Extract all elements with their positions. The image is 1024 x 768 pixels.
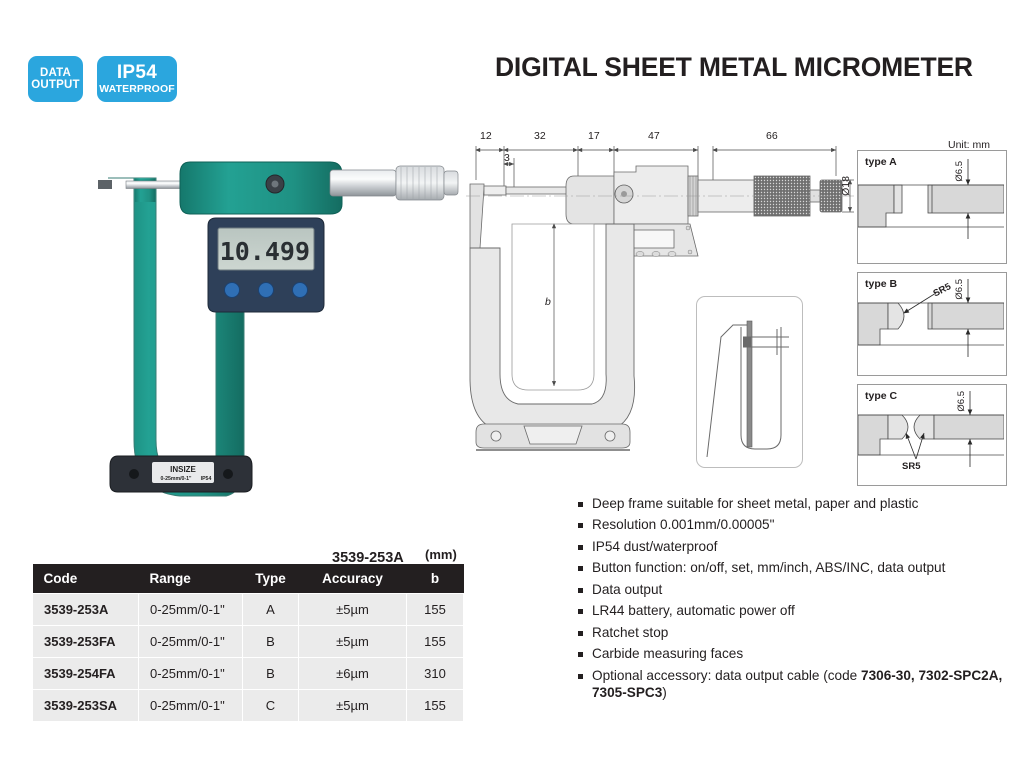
table-row: 3539-253A0-25mm/0-1"A±5µm155 xyxy=(33,594,464,626)
cell-b: 155 xyxy=(407,626,464,658)
cell-accuracy: ±5µm xyxy=(299,626,407,658)
base-plate-screw-right xyxy=(223,469,233,479)
inset-contact-point xyxy=(743,337,751,347)
optional-accessory-prefix: Optional accessory: data output cable (c… xyxy=(592,668,861,683)
cell-range: 0-25mm/0-1" xyxy=(139,626,243,658)
drawing-measuring-face xyxy=(484,186,506,195)
feature-item: Data output xyxy=(578,582,1018,599)
type-c-anvil xyxy=(858,415,888,455)
badge-data-output: DATA OUTPUT xyxy=(28,56,83,102)
feature-item: Deep frame suitable for sheet metal, pap… xyxy=(578,496,1018,513)
column-header-b: b xyxy=(407,564,464,594)
dim-throat-b: b xyxy=(545,296,551,308)
dim-diameter-18: Ø18 xyxy=(840,176,852,196)
type-c-spherical-spindle xyxy=(914,415,934,439)
type-b-spherical-face xyxy=(888,303,904,329)
lcd-reading: 10.499 xyxy=(220,237,310,266)
cell-range: 0-25mm/0-1" xyxy=(139,658,243,690)
dim-12: 12 xyxy=(480,130,492,142)
cell-code: 3539-253SA xyxy=(33,690,139,722)
cell-code: 3539-253FA xyxy=(33,626,139,658)
badge-data-output-line1: DATA xyxy=(40,67,71,79)
type-c-diameter: Ø6.5 xyxy=(956,391,967,412)
type-c-radius: SR5 xyxy=(902,461,920,472)
drawing-base-tag xyxy=(524,426,582,444)
column-header-code: Code xyxy=(33,564,139,594)
type-a-anvil xyxy=(858,185,894,227)
feature-item: Resolution 0.001mm/0.00005" xyxy=(578,517,1018,534)
cell-accuracy: ±5µm xyxy=(299,594,407,626)
type-b-label: type B xyxy=(865,278,897,290)
table-unit-label: (mm) xyxy=(425,547,457,562)
features-list: Deep frame suitable for sheet metal, pap… xyxy=(578,496,1018,706)
table-header-row: Code Range Type Accuracy b xyxy=(33,564,464,594)
drawing-base-screw-right xyxy=(605,431,615,441)
base-plate-screw-left xyxy=(129,469,139,479)
type-c-panel: type C Ø6.5 SR5 xyxy=(857,384,1007,486)
drawing-head-block xyxy=(566,176,614,224)
column-header-type: Type xyxy=(243,564,299,594)
type-b-anvil xyxy=(858,303,888,345)
cell-type: B xyxy=(243,658,299,690)
column-header-range: Range xyxy=(139,564,243,594)
cell-code: 3539-253A xyxy=(33,594,139,626)
type-c-spherical-anvil xyxy=(888,415,908,439)
frame-head-block xyxy=(180,162,342,214)
cell-b: 310 xyxy=(407,658,464,690)
type-a-panel: type A Ø6.5 xyxy=(857,150,1007,264)
type-a-anvil-face xyxy=(894,185,902,213)
button-zero-set[interactable] xyxy=(259,283,274,298)
type-b-spindle xyxy=(928,303,1004,329)
cell-range: 0-25mm/0-1" xyxy=(139,690,243,722)
cell-b: 155 xyxy=(407,594,464,626)
feature-item-optional-accessory: Optional accessory: data output cable (c… xyxy=(578,668,1018,702)
cell-type: C xyxy=(243,690,299,722)
table-row: 3539-254FA0-25mm/0-1"B±6µm310 xyxy=(33,658,464,690)
anvil xyxy=(98,180,112,189)
column-header-accuracy: Accuracy xyxy=(299,564,407,594)
clamp-screw-center xyxy=(272,181,279,188)
cell-accuracy: ±6µm xyxy=(299,658,407,690)
dim-47: 47 xyxy=(648,130,660,142)
feature-item: Ratchet stop xyxy=(578,625,1018,642)
dim-3: 3 xyxy=(504,152,510,164)
type-a-diameter: Ø6.5 xyxy=(954,161,965,182)
feature-item: IP54 dust/waterproof xyxy=(578,539,1018,556)
specification-table: Code Range Type Accuracy b 3539-253A0-25… xyxy=(32,564,464,722)
feature-item: LR44 battery, automatic power off xyxy=(578,603,1018,620)
type-a-spindle xyxy=(928,185,1004,213)
badge-ip54-line2: WATERPROOF xyxy=(99,84,174,95)
badge-data-output-line2: OUTPUT xyxy=(31,79,79,91)
brand-name: INSIZE xyxy=(170,465,196,474)
cell-code: 3539-254FA xyxy=(33,658,139,690)
table-row: 3539-253FA0-25mm/0-1"B±5µm155 xyxy=(33,626,464,658)
cell-type: B xyxy=(243,626,299,658)
dim-32: 32 xyxy=(534,130,546,142)
drawing-anvil xyxy=(470,184,484,248)
cell-accuracy: ±5µm xyxy=(299,690,407,722)
drawing-throat-slot xyxy=(512,224,594,390)
certification-badges: DATA OUTPUT IP54 WATERPROOF xyxy=(28,56,177,102)
product-photo: 10.499 INSIZE 0-25mm/0-1" IP54 3539-253A xyxy=(30,140,460,530)
button-origin[interactable] xyxy=(225,283,240,298)
cell-b: 155 xyxy=(407,690,464,722)
cell-range: 0-25mm/0-1" xyxy=(139,594,243,626)
type-b-panel: type B Ø6.5 SR5 xyxy=(857,272,1007,376)
dim-66: 66 xyxy=(766,130,778,142)
optional-accessory-suffix: ) xyxy=(662,685,667,700)
cell-type: A xyxy=(243,594,299,626)
plate-range: 0-25mm/0-1" xyxy=(160,476,192,482)
dim-17: 17 xyxy=(588,130,600,142)
badge-ip54: IP54 WATERPROOF xyxy=(97,56,177,102)
plate-ip: IP54 xyxy=(201,476,212,482)
button-mm-inch[interactable] xyxy=(293,283,308,298)
drawing-base-screw-left xyxy=(491,431,501,441)
ratchet-stop xyxy=(444,171,458,195)
type-c-label: type C xyxy=(865,390,897,402)
sleeve xyxy=(330,170,396,196)
table-row: 3539-253SA0-25mm/0-1"C±5µm155 xyxy=(33,690,464,722)
feature-item: Button function: on/off, set, mm/inch, A… xyxy=(578,560,1018,577)
type-b-diameter: Ø6.5 xyxy=(954,279,965,300)
product-photo-illustration: 10.499 INSIZE 0-25mm/0-1" IP54 xyxy=(30,140,460,530)
application-detail-inset xyxy=(696,296,803,468)
feature-item: Carbide measuring faces xyxy=(578,646,1018,663)
inset-illustration xyxy=(697,297,800,465)
type-a-label: type A xyxy=(865,156,897,168)
badge-ip54-line1: IP54 xyxy=(117,63,157,83)
type-c-spindle xyxy=(934,415,1004,439)
page-title: DIGITAL SHEET METAL MICROMETER xyxy=(495,52,1010,83)
